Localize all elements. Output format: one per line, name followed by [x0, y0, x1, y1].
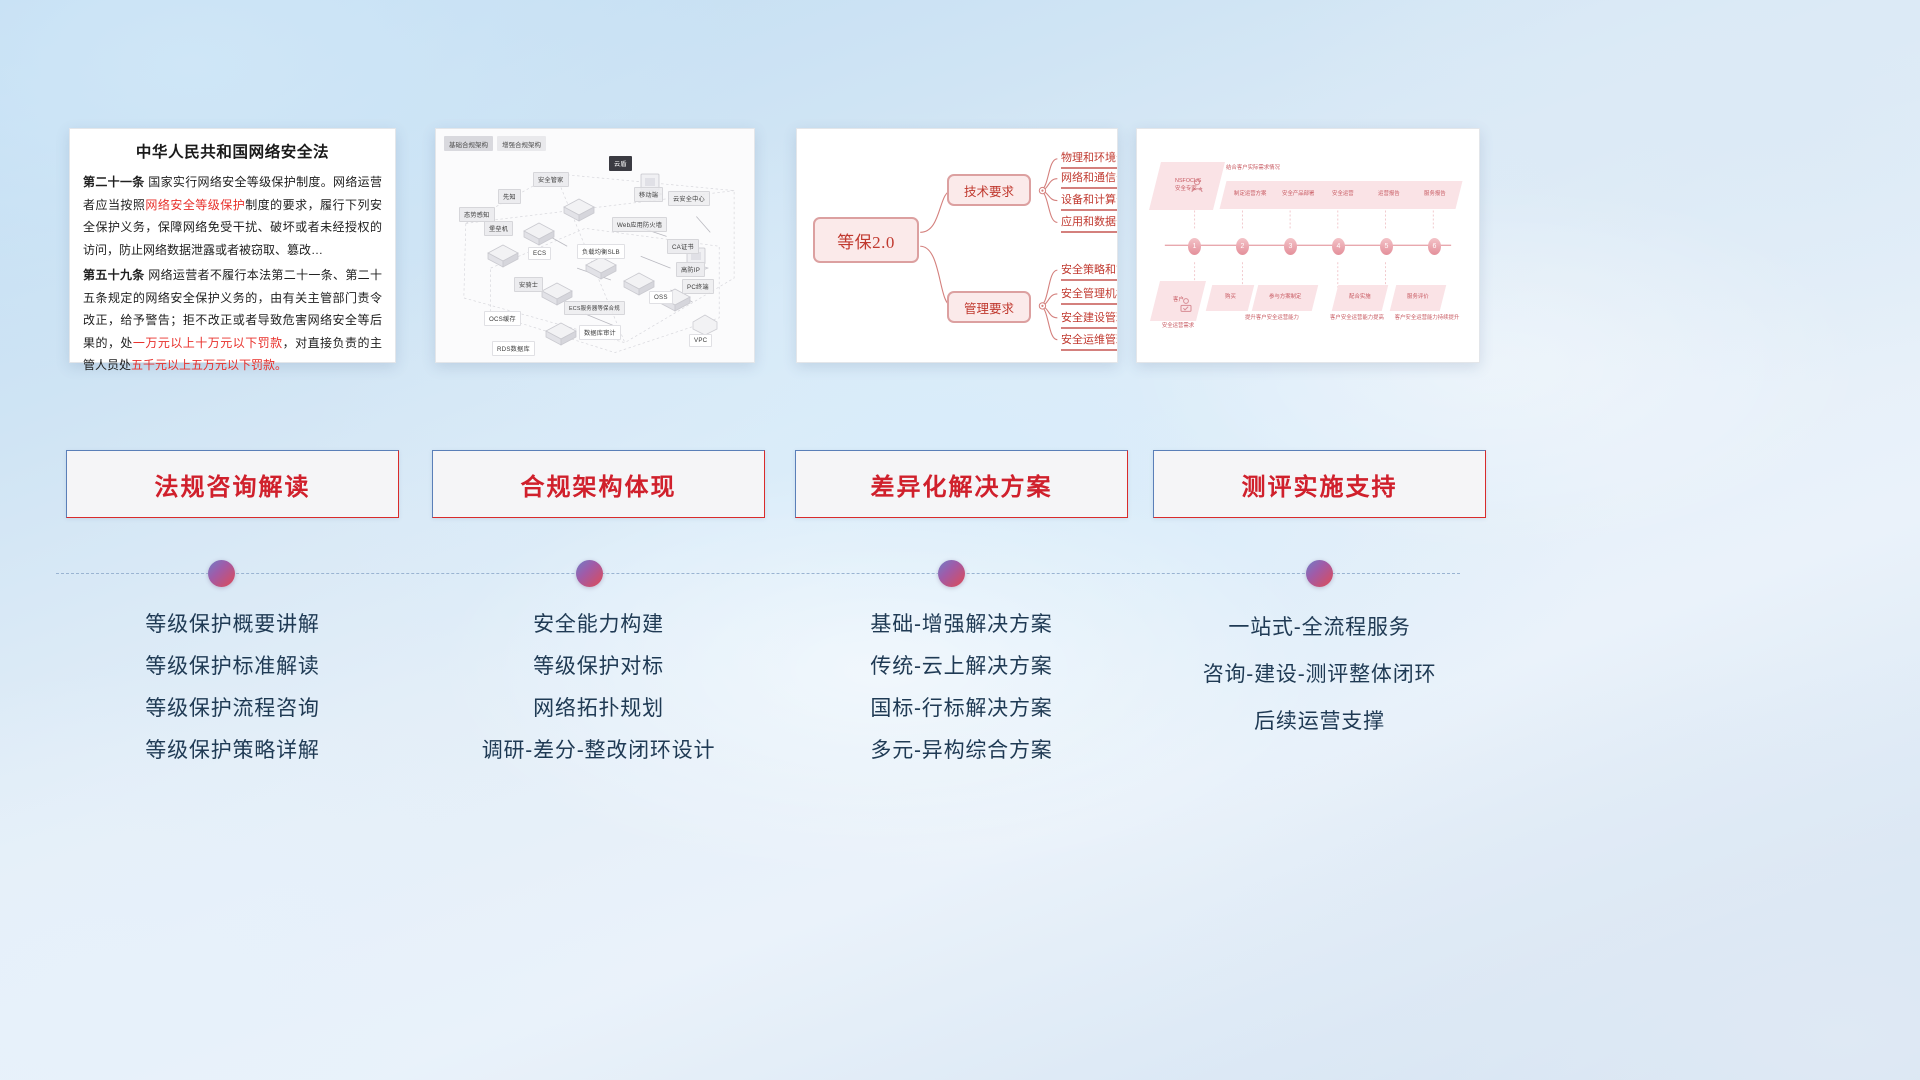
arch-node-db-audit: 数据库审计 — [579, 325, 621, 340]
server-cube-icon — [486, 243, 520, 269]
nsfocus-timeline-diagram: NSFOCUS 安全专家 结合客户实际需求情况 制定运营方案 安全产品部署 安全… — [1137, 129, 1479, 362]
list-item: 等级保护标准解读 — [66, 646, 399, 688]
list-item: 传统-云上解决方案 — [795, 646, 1128, 688]
law-article-21: 第二十一条 国家实行网络安全等级保护制度。网络运营者应当按照网络安全等级保护制度… — [83, 171, 382, 261]
card-cybersecurity-law[interactable]: 中华人民共和国网络安全法 第二十一条 国家实行网络安全等级保护制度。网络运营者应… — [69, 128, 396, 363]
arch-node-bastion-host: 堡垒机 — [484, 221, 513, 236]
card-nsfocus-service-timeline[interactable]: NSFOCUS 安全专家 结合客户实际需求情况 制定运营方案 安全产品部署 安全… — [1136, 128, 1480, 363]
section-title-4: 测评实施支持 — [1242, 467, 1398, 502]
section-title-box-2[interactable]: 合规架构体现 — [432, 450, 765, 518]
nsfocus-step-4: 4 — [1332, 238, 1345, 255]
nsfocus-step-5: 5 — [1380, 238, 1393, 255]
law-article-21-label: 第二十一条 — [83, 175, 145, 189]
bullet-list-4: 一站式-全流程服务 咨询-建设-测评整体闭环 后续运营支撑 — [1153, 604, 1486, 745]
section-title-3: 差异化解决方案 — [871, 467, 1053, 502]
list-item: 国标-行标解决方案 — [795, 688, 1128, 730]
list-item: 网络拓扑规划 — [432, 688, 765, 730]
nsfocus-bottom-sub-4: 客户安全运营能力持续提升 — [1389, 315, 1465, 322]
nsfocus-bottom-label-4: 服务评价 — [1390, 285, 1446, 311]
mindmap-leaf-physical-environment: 物理和环境安全 — [1061, 149, 1117, 169]
mindmap-diagram: 等保2.0 技术要求 管理要求 物理和环境安全 网络和通信安全 设备和计算安全 … — [797, 129, 1117, 362]
nsfocus-bottom-label-3: 配合实施 — [1332, 285, 1388, 311]
list-item: 等级保护策略详解 — [66, 730, 399, 772]
law-article-21-highlight: 网络安全等级保护 — [145, 198, 245, 212]
list-item: 咨询-建设-测评整体闭环 — [1153, 651, 1486, 698]
bullet-list-3: 基础-增强解决方案 传统-云上解决方案 国标-行标解决方案 多元-异构综合方案 — [795, 604, 1128, 772]
bullet-list-2: 安全能力构建 等级保护对标 网络拓扑规划 调研-差分-整改闭环设计 — [432, 604, 765, 772]
list-item: 多元-异构综合方案 — [795, 730, 1128, 772]
nsfocus-brand-name: NSFOCUS — [1175, 178, 1201, 186]
section-title-box-1[interactable]: 法规咨询解读 — [66, 450, 399, 518]
law-article-59-highlight-b: 五千元以上五万元以下罚款。 — [131, 358, 287, 372]
bullet-list-1: 等级保护概要讲解 等级保护标准解读 等级保护流程咨询 等级保护策略详解 — [66, 604, 399, 772]
nsfocus-brand-chip: NSFOCUS 安全专家 — [1149, 162, 1225, 210]
section-title-1: 法规咨询解读 — [155, 467, 311, 502]
section-title-box-4[interactable]: 测评实施支持 — [1153, 450, 1486, 518]
arch-node-ecs-compliance: ECS服务器等保合规 — [564, 301, 625, 315]
arch-node-cloud-security-center: 云安全中心 — [668, 191, 710, 206]
timeline-dot-3[interactable] — [938, 560, 965, 587]
list-item: 一站式-全流程服务 — [1153, 604, 1486, 651]
arch-node-rds-database: RDS数据库 — [492, 341, 535, 356]
arch-node-pc-terminal: PC终端 — [682, 279, 714, 294]
mindmap-leaf-security-org: 安全管理机构和人员 — [1061, 285, 1117, 305]
arch-node-security-steward: 安全管家 — [533, 172, 569, 187]
nsfocus-bottom-sub-3: 客户安全运营能力提高 — [1323, 315, 1391, 322]
server-cube-icon — [544, 321, 578, 347]
nsfocus-step-6: 6 — [1428, 238, 1441, 255]
list-item: 调研-差分-整改闭环设计 — [432, 730, 765, 772]
card-mlps-mindmap[interactable]: 等保2.0 技术要求 管理要求 物理和环境安全 网络和通信安全 设备和计算安全 … — [796, 128, 1118, 363]
list-item: 安全能力构建 — [432, 604, 765, 646]
card-compliance-architecture[interactable]: 基础合规架构 增强合规架构 — [435, 128, 755, 363]
nsfocus-bottom-sub-2: 提升客户安全运营能力 — [1241, 315, 1303, 322]
mindmap-branch-management: 管理要求 — [947, 291, 1031, 323]
nsfocus-step-3: 3 — [1284, 238, 1297, 255]
nsfocus-customer-sub: 安全运营需求 — [1149, 323, 1207, 330]
architecture-diagram: 基础合规架构 增强合规架构 — [436, 129, 754, 362]
list-item: 等级保护流程咨询 — [66, 688, 399, 730]
list-item: 等级保护概要讲解 — [66, 604, 399, 646]
timeline-dashed-line — [56, 573, 1460, 574]
law-article-59: 第五十九条 网络运营者不履行本法第二十一条、第二十五条规定的网络安全保护义务的，… — [83, 264, 382, 377]
server-cube-icon — [522, 221, 556, 247]
nsfocus-customer-label: 客户 — [1173, 297, 1184, 305]
law-text-block: 中华人民共和国网络安全法 第二十一条 国家实行网络安全等级保护制度。网络运营者应… — [70, 129, 395, 377]
arch-node-situational-awareness: 态势感知 — [459, 207, 495, 222]
nsfocus-top-caption: 结合客户实际需求情况 — [1223, 165, 1283, 172]
arch-node-anti-ddos-ip: 高防IP — [676, 262, 705, 277]
arch-node-xianzhi: 先知 — [498, 189, 521, 204]
timeline-dot-4[interactable] — [1306, 560, 1333, 587]
nsfocus-bottom-label-2: 参与方案制定 — [1252, 285, 1318, 311]
section-title-2: 合规架构体现 — [521, 467, 677, 502]
arch-node-ocs-cache: OCS缓存 — [484, 311, 521, 326]
arch-node-slb: 负载均衡SLB — [577, 244, 625, 259]
timeline-track — [0, 560, 1920, 588]
timeline-dot-2[interactable] — [576, 560, 603, 587]
mindmap-leaf-ops-mgmt: 安全运维管理 — [1061, 331, 1117, 351]
mindmap-branch-technical: 技术要求 — [947, 174, 1031, 206]
image-card-row: 中华人民共和国网络安全法 第二十一条 国家实行网络安全等级保护制度。网络运营者应… — [0, 128, 1920, 363]
arch-node-ca-certificate: CA证书 — [667, 239, 699, 254]
nsfocus-step-1: 1 — [1188, 238, 1201, 255]
arch-node-anqishi: 安骑士 — [514, 277, 543, 292]
nsfocus-step-2: 2 — [1236, 238, 1249, 255]
law-article-59-highlight-a: 一万元以上十万元以下罚款 — [133, 336, 283, 350]
timeline-dot-1[interactable] — [208, 560, 235, 587]
mindmap-leaf-network-communication: 网络和通信安全 — [1061, 169, 1117, 189]
arch-node-mobile: 移动端 — [634, 187, 663, 202]
mindmap-leaf-device-computing: 设备和计算安全 — [1061, 191, 1117, 211]
mindmap-leaf-security-policy: 安全策略和管理制度 — [1061, 261, 1117, 281]
mindmap-root-node: 等保2.0 — [813, 217, 919, 263]
arch-node-waf: Web应用防火墙 — [612, 217, 667, 232]
nsfocus-brand-sub: 安全专家 — [1175, 186, 1197, 194]
server-cube-icon — [562, 197, 596, 223]
nsfocus-top-label-5: 服务报告 — [1408, 181, 1463, 209]
mindmap-leaf-construction-mgmt: 安全建设管理 — [1061, 309, 1117, 329]
section-title-box-3[interactable]: 差异化解决方案 — [795, 450, 1128, 518]
mindmap-leaf-application-data: 应用和数据安全 — [1061, 213, 1117, 233]
law-title: 中华人民共和国网络安全法 — [83, 140, 382, 162]
arch-node-ecs: ECS — [528, 247, 551, 260]
list-item: 等级保护对标 — [432, 646, 765, 688]
arch-node-oss: OSS — [649, 291, 673, 304]
nsfocus-bottom-label-1: 购买 — [1206, 285, 1254, 311]
section-title-row: 法规咨询解读 合规架构体现 差异化解决方案 测评实施支持 — [0, 450, 1920, 518]
arch-node-cloud-shield: 云盾 — [609, 156, 632, 171]
arch-node-vpc: VPC — [689, 334, 712, 347]
list-item: 基础-增强解决方案 — [795, 604, 1128, 646]
law-article-59-label: 第五十九条 — [83, 268, 145, 282]
list-item: 后续运营支撑 — [1153, 698, 1486, 745]
